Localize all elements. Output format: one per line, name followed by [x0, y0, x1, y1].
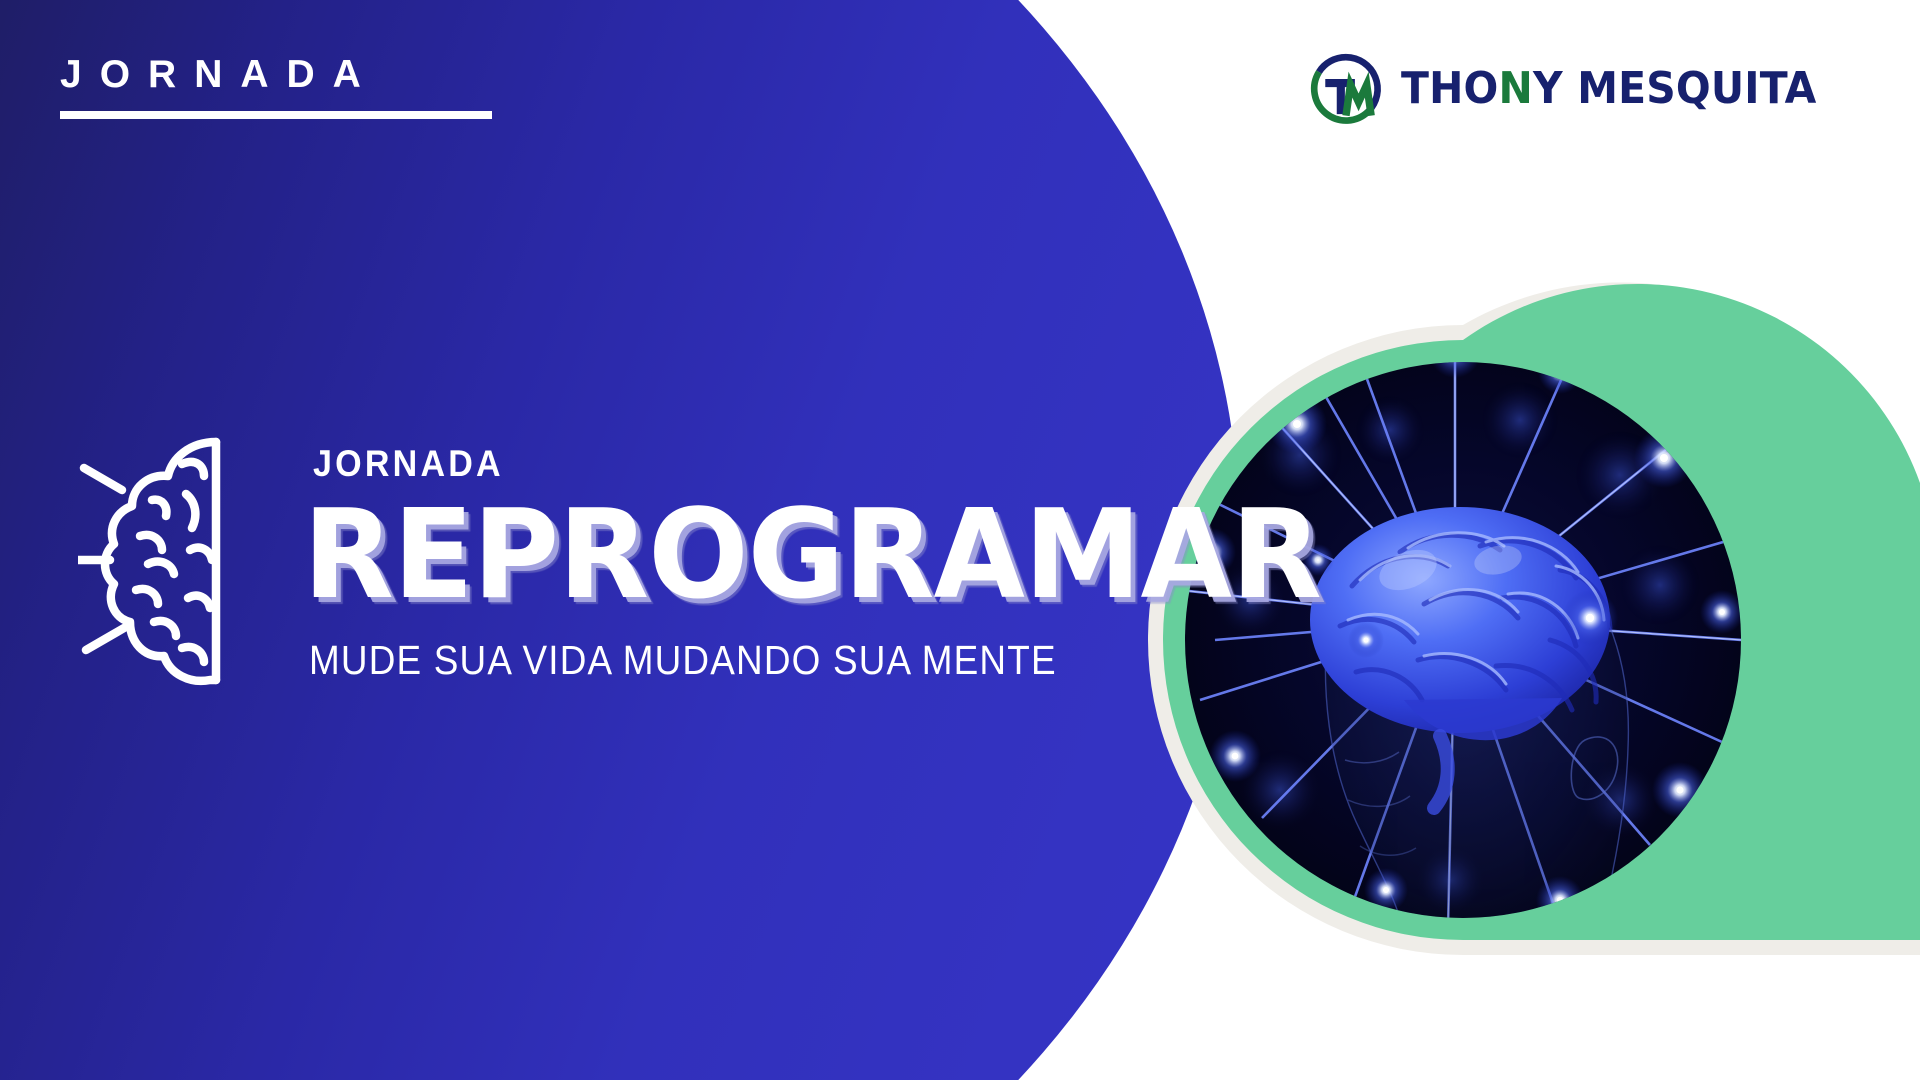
- hero-headline: REPROGRAMAR: [303, 493, 1321, 618]
- hero-lockup: JORNADA REPROGRAMAR MUDE SUA VIDA MUDAND…: [78, 432, 1363, 694]
- brand-name-part-2: Y MESQUITA: [1533, 63, 1817, 114]
- hero-tagline: MUDE SUA VIDA MUDANDO SUA MENTE: [309, 640, 1258, 681]
- brand-name-part-1: THO: [1401, 63, 1499, 114]
- eyebrow-jornada: JORNADA: [60, 55, 492, 119]
- brand-logo[interactable]: THONY MESQUITA: [1309, 52, 1848, 126]
- brand-name-accent: N: [1499, 63, 1533, 114]
- brain-outline-icon: [78, 432, 293, 694]
- eyebrow-label: JORNADA: [60, 55, 492, 94]
- tm-monogram-icon: [1309, 52, 1383, 126]
- hero-kicker: JORNADA: [313, 445, 1279, 482]
- eyebrow-underline: [60, 111, 492, 119]
- brand-name: THONY MESQUITA: [1401, 67, 1816, 111]
- banner-canvas: JORNADA THONY MESQUITA: [0, 0, 1920, 1080]
